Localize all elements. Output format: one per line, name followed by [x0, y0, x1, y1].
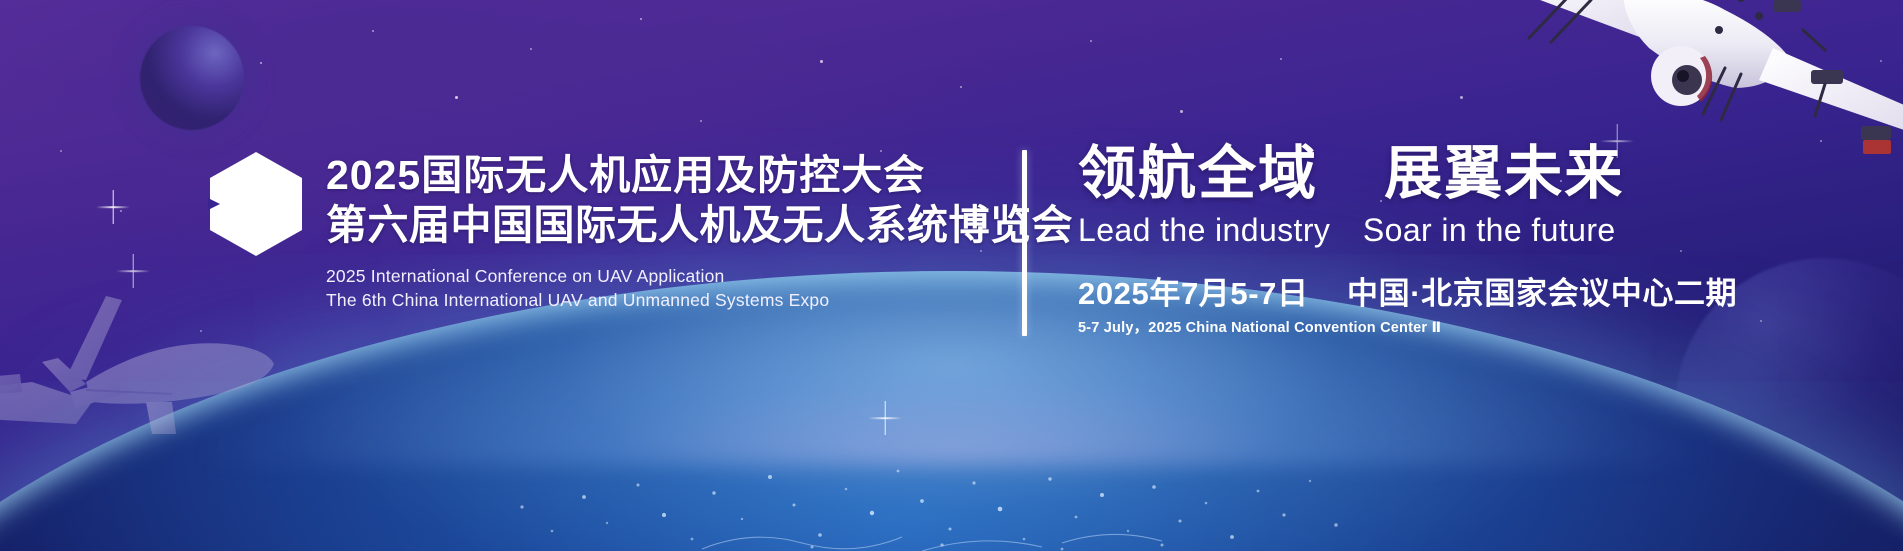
slogan-en-part2: Soar in the future — [1363, 212, 1616, 248]
event-meta: 2025年7月5-7日 中国·北京国家会议中心二期 5-7 July，2025 … — [1078, 274, 1737, 339]
slogan-cn-part2: 展翼未来 — [1384, 141, 1624, 206]
uuc-hexagon-logo-icon — [208, 152, 304, 256]
conference-titles: 2025国际无人机应用及防控大会 第六届中国国际无人机及无人系统博览会 2025… — [326, 148, 1073, 312]
conference-title-en-line1: 2025 International Conference on UAV App… — [326, 264, 1073, 288]
event-venue-cn: 中国·北京国家会议中心二期 — [1347, 276, 1737, 311]
slogan-cn-part1: 领航全域 — [1078, 141, 1318, 206]
conference-identity-block: 2025国际无人机应用及防控大会 第六届中国国际无人机及无人系统博览会 2025… — [208, 148, 1073, 312]
conference-title-cn-line2: 第六届中国国际无人机及无人系统博览会 — [326, 200, 1073, 250]
slogan-cn: 领航全域 展翼未来 — [1078, 140, 1737, 208]
slogan-en: Lead the industry Soar in the future — [1078, 210, 1737, 250]
slogan-block: 领航全域 展翼未来 Lead the industry Soar in the … — [1078, 140, 1737, 339]
conference-banner: 2025国际无人机应用及防控大会 第六届中国国际无人机及无人系统博览会 2025… — [0, 0, 1903, 551]
event-date-venue-en: 5-7 July，2025 China National Convention … — [1078, 317, 1737, 339]
vertical-divider — [1022, 150, 1027, 336]
banner-content: 2025国际无人机应用及防控大会 第六届中国国际无人机及无人系统博览会 2025… — [0, 0, 1903, 551]
slogan-en-part1: Lead the industry — [1078, 212, 1330, 248]
event-date-cn: 2025年7月5-7日 — [1078, 276, 1309, 311]
conference-titles-en: 2025 International Conference on UAV App… — [326, 264, 1073, 312]
conference-title-cn-line1: 2025国际无人机应用及防控大会 — [326, 150, 1073, 200]
event-date-venue-cn: 2025年7月5-7日 中国·北京国家会议中心二期 — [1078, 274, 1737, 314]
conference-title-en-line2: The 6th China International UAV and Unma… — [326, 288, 1073, 312]
